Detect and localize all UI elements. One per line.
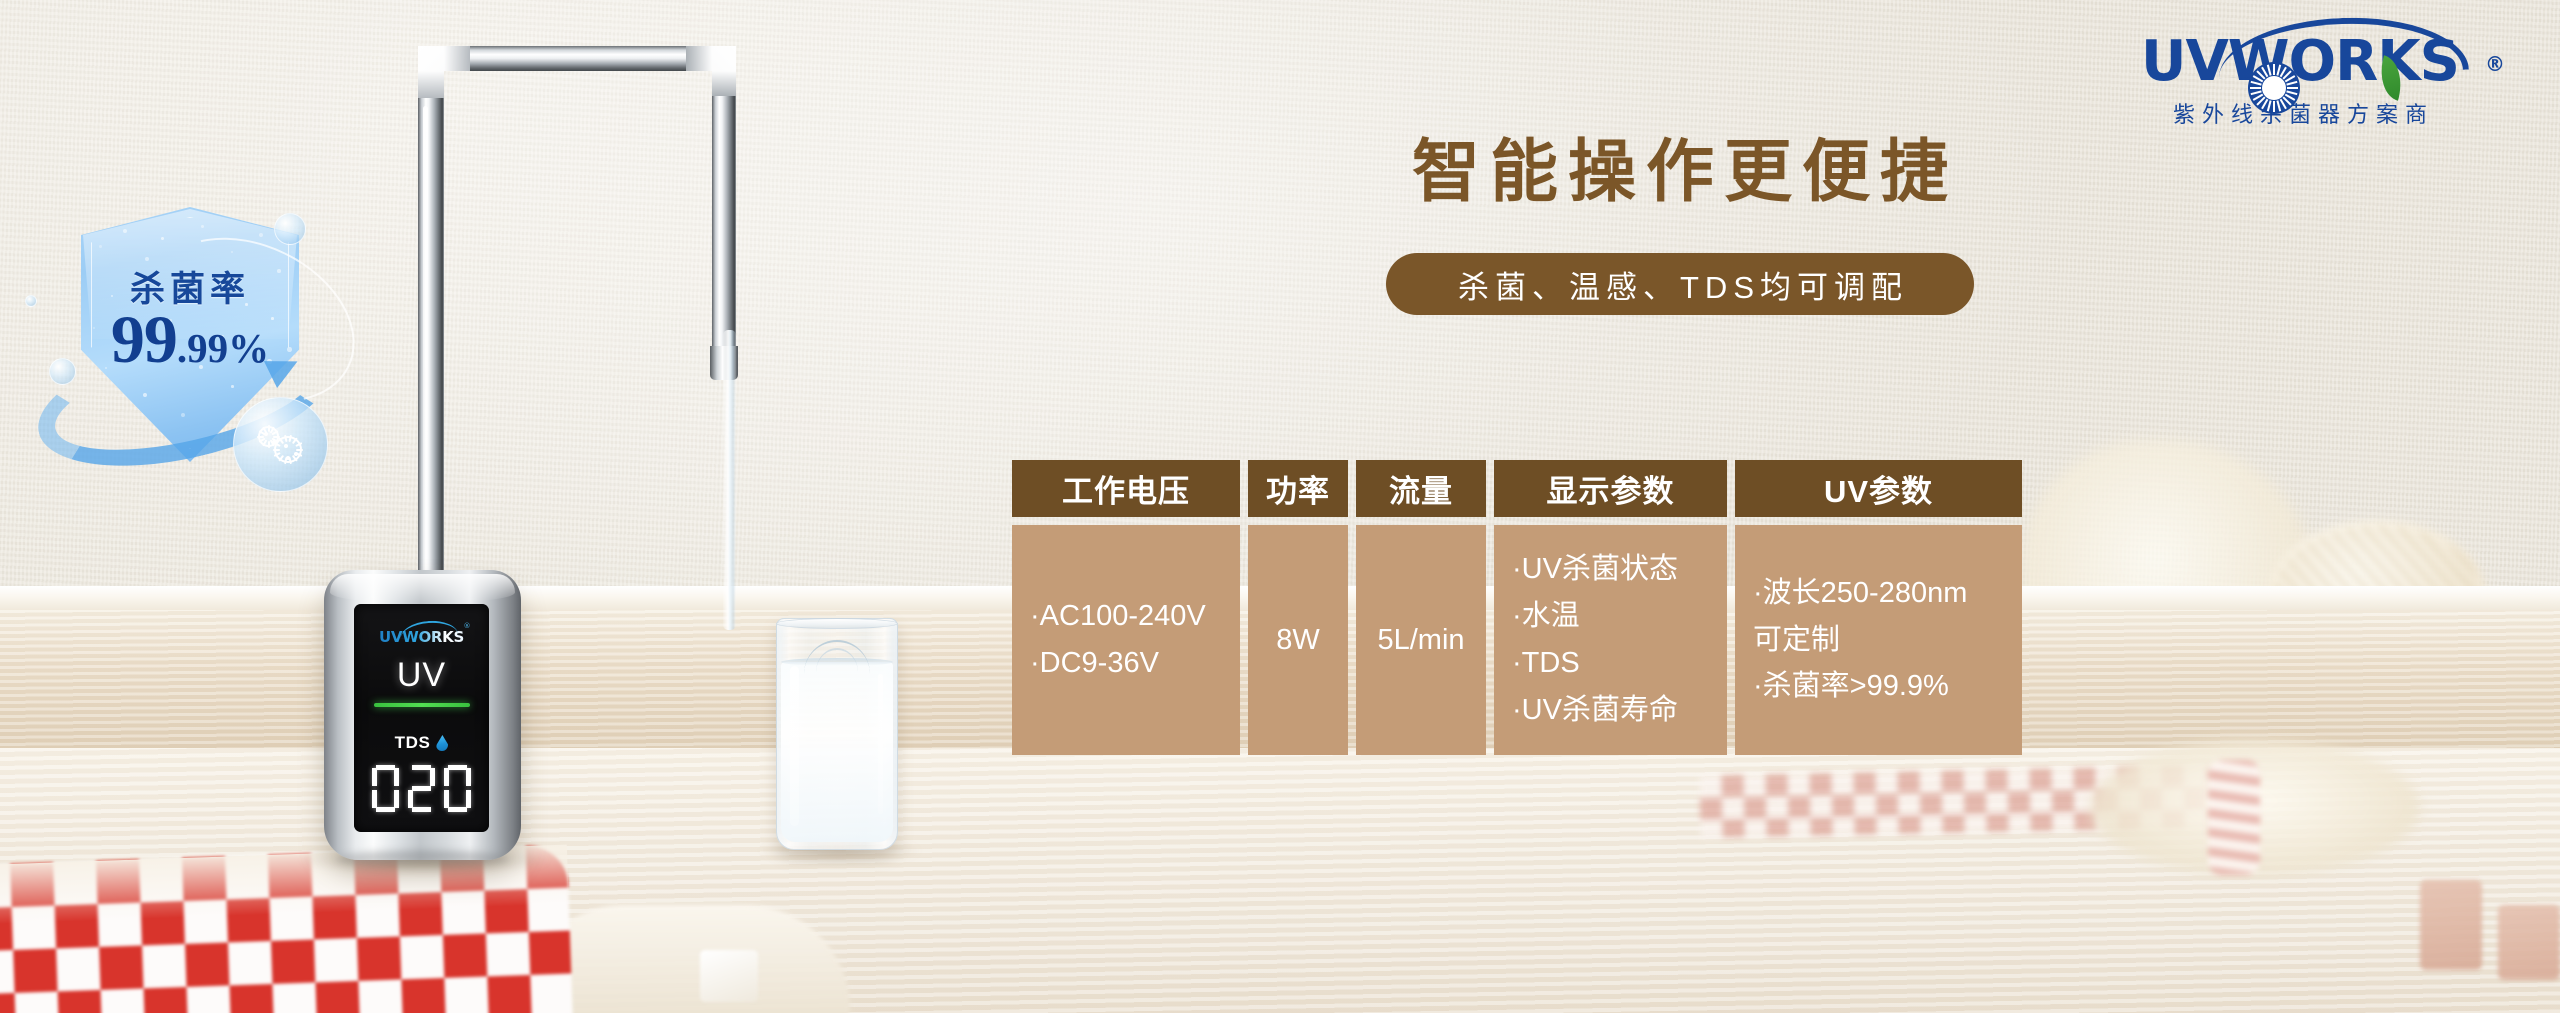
spec-body-cell: 8W xyxy=(1248,525,1348,755)
screen-logo-trademark-icon: ® xyxy=(464,622,471,630)
badge-value-minor: .99% xyxy=(177,325,269,371)
faucet-right-pipe xyxy=(712,84,736,354)
spec-table-body-row: ·AC100-240V ·DC9-36V 8W 5L/min ·UV杀菌状态 ·… xyxy=(1012,525,2312,755)
glass-highlight-left xyxy=(790,666,799,826)
faucet-corner-right xyxy=(686,46,736,96)
spec-line: ·水温 xyxy=(1512,593,1709,640)
water-droplet-icon xyxy=(436,735,448,751)
seven-segment-digit xyxy=(372,765,399,812)
sugar-cube-prop xyxy=(700,950,758,1002)
spec-body-cell: 5L/min xyxy=(1356,525,1486,755)
spec-table: 工作电压 功率 流量 显示参数 UV参数 ·AC100-240V ·DC9-36… xyxy=(1012,460,2312,755)
water-glass xyxy=(776,618,898,850)
spec-body-cell: ·UV杀菌状态 ·水温 ·TDS ·UV杀菌寿命 xyxy=(1494,525,1727,755)
device-status-bar xyxy=(374,703,470,707)
bubble-icon xyxy=(49,358,76,385)
spec-header-cell: 功率 xyxy=(1248,460,1348,517)
device-base-shadow xyxy=(336,851,509,867)
seven-segment-digit xyxy=(408,765,435,812)
faucet-corner-left xyxy=(418,46,470,98)
company-logo: UVWORKS ® 紫外线杀菌器方案商 xyxy=(2100,34,2500,162)
glass-highlight-right xyxy=(878,674,883,814)
device-top-sheen xyxy=(330,574,515,602)
device-mode-label: UV xyxy=(397,658,446,692)
striped-object-prop xyxy=(2208,760,2260,875)
banner-scene: UVWORKS ® UV TDS xyxy=(0,0,2560,1013)
device-screen: UVWORKS ® UV TDS xyxy=(354,604,489,832)
wood-block-prop-1 xyxy=(2420,880,2482,970)
device-tds-value xyxy=(372,765,471,812)
spec-body-cell: ·波长250-280nm 可定制 ·杀菌率>99.9% xyxy=(1735,525,2022,755)
page-title: 智能操作更便捷 xyxy=(1360,135,2000,210)
bacteria-icon xyxy=(256,422,306,466)
bubble-icon xyxy=(274,213,306,245)
registered-trademark-icon: ® xyxy=(2485,54,2504,74)
faucet-left-pipe xyxy=(418,84,444,606)
faucet-top-pipe xyxy=(430,46,724,71)
sunburst-icon xyxy=(2248,62,2300,114)
badge-value: 99.99% xyxy=(81,305,299,373)
wood-block-prop-2 xyxy=(2498,905,2560,980)
spec-line: 8W xyxy=(1276,617,1320,664)
spec-header-cell: UV参数 xyxy=(1735,460,2022,517)
spec-line: ·DC9-36V xyxy=(1030,640,1222,687)
subtitle-pill: 杀菌、温感、TDS均可调配 xyxy=(1386,253,1974,315)
screen-brand-logo: UVWORKS ® xyxy=(374,622,470,645)
water-stream xyxy=(723,330,736,630)
uv-sterilizer-device: UVWORKS ® UV TDS xyxy=(324,570,521,860)
badge-value-major: 99 xyxy=(111,301,177,377)
spec-line: ·TDS xyxy=(1512,640,1709,687)
device-tds-label: TDS xyxy=(395,733,431,753)
spec-header-cell: 显示参数 xyxy=(1494,460,1727,517)
bubble-icon xyxy=(25,295,37,307)
sterilization-rate-badge: 杀菌率 99.99% xyxy=(25,175,355,505)
seven-segment-digit xyxy=(444,765,471,812)
spec-body-cell: ·AC100-240V ·DC9-36V xyxy=(1012,525,1240,755)
spec-table-header-row: 工作电压 功率 流量 显示参数 UV参数 xyxy=(1012,460,2312,517)
spec-line: ·AC100-240V xyxy=(1030,593,1222,640)
logo-tagline: 紫外线杀菌器方案商 xyxy=(2100,97,2500,129)
spec-header-cell: 工作电压 xyxy=(1012,460,1240,517)
glass-rim xyxy=(776,618,898,629)
subtitle-pill-text: 杀菌、温感、TDS均可调配 xyxy=(1452,262,1908,307)
spec-line: ·UV杀菌状态 xyxy=(1512,546,1709,593)
faucet-highlight xyxy=(423,106,428,606)
spec-header-cell: 流量 xyxy=(1356,460,1486,517)
spec-line: 5L/min xyxy=(1377,617,1464,664)
spec-line: 可定制 xyxy=(1753,617,2004,664)
spec-line: ·波长250-280nm xyxy=(1753,570,2004,617)
germ-bubble xyxy=(233,397,328,492)
device-tds-row: TDS xyxy=(395,733,449,753)
spec-line: ·杀菌率>99.9% xyxy=(1753,663,2004,710)
logo-wordmark: UVWORKS ® xyxy=(2100,34,2500,90)
spec-line: ·UV杀菌寿命 xyxy=(1512,687,1709,734)
faucet xyxy=(418,46,738,606)
